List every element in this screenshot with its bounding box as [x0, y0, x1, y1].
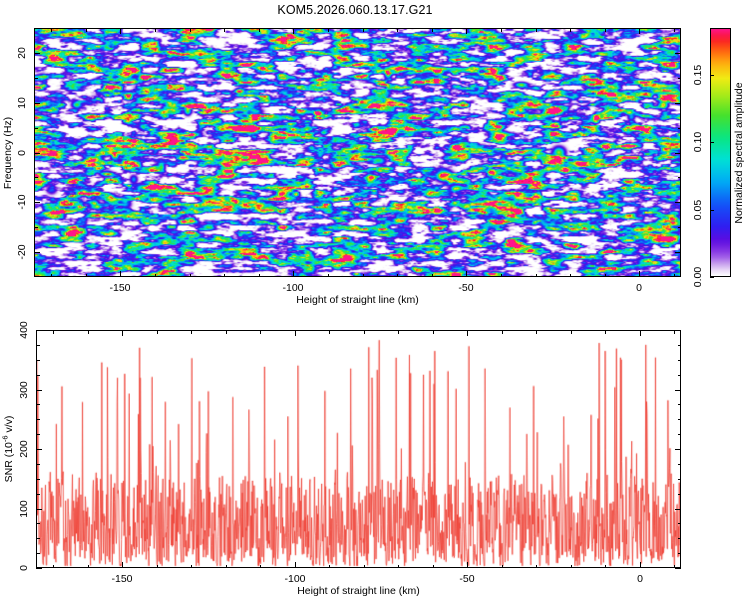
x-minor-tick-top — [398, 330, 399, 334]
y-minor-tick — [36, 538, 40, 539]
y-tick-label: 10 — [16, 97, 28, 109]
x-minor-tick-top — [536, 28, 537, 32]
x-minor-tick-top — [328, 28, 329, 32]
x-minor-tick — [536, 565, 537, 569]
x-minor-tick — [433, 565, 434, 569]
y-minor-tick — [36, 464, 40, 465]
y-major-tick-right — [675, 509, 681, 510]
x-major-tick-top — [122, 330, 123, 336]
y-minor-tick-right — [678, 494, 682, 495]
colorbar-tick — [710, 75, 714, 76]
x-minor-tick-top — [571, 330, 572, 334]
x-minor-tick — [674, 274, 675, 278]
x-tick-label: 0 — [636, 282, 642, 294]
x-minor-tick — [157, 565, 158, 569]
y-minor-tick-right — [678, 345, 682, 346]
spectrogram-panel — [34, 28, 681, 277]
x-minor-tick — [328, 274, 329, 278]
y-minor-tick — [36, 523, 40, 524]
y-minor-tick-right — [678, 360, 682, 361]
y-minor-tick — [36, 404, 40, 405]
y-minor-tick-right — [678, 227, 682, 228]
x-minor-tick-top — [536, 330, 537, 334]
x-major-tick — [466, 271, 467, 277]
x-minor-tick — [605, 274, 606, 278]
y-tick-label: -10 — [16, 194, 28, 209]
y-tick-label: 20 — [16, 47, 28, 59]
y-major-tick — [34, 103, 40, 104]
x-minor-tick — [191, 565, 192, 569]
x-minor-tick — [88, 565, 89, 569]
x-minor-tick — [536, 274, 537, 278]
x-minor-tick-top — [674, 28, 675, 32]
y-major-tick-right — [675, 153, 681, 154]
y-major-tick — [36, 330, 42, 331]
x-minor-tick — [51, 274, 52, 278]
spectrogram-y-axis-title: Frequency (Hz) — [2, 116, 14, 188]
colorbar-tick — [710, 142, 714, 143]
y-minor-tick — [34, 78, 38, 79]
x-major-tick — [120, 271, 121, 277]
y-tick-label: 400 — [18, 321, 30, 339]
x-minor-tick — [363, 274, 364, 278]
y-major-tick-right — [675, 202, 681, 203]
x-tick-label: -150 — [111, 573, 132, 585]
y-tick-label: 100 — [18, 500, 30, 518]
x-minor-tick-top — [397, 28, 398, 32]
y-minor-tick-right — [678, 128, 682, 129]
x-minor-tick-top — [432, 28, 433, 32]
x-major-tick-top — [293, 28, 294, 34]
x-major-tick — [640, 562, 641, 568]
x-minor-tick — [397, 274, 398, 278]
x-minor-tick-top — [190, 28, 191, 32]
y-major-tick-right — [675, 390, 681, 391]
colorbar-tick-label: 0.00 — [692, 267, 704, 287]
y-minor-tick-right — [678, 523, 682, 524]
x-tick-label: -50 — [459, 573, 474, 585]
x-minor-tick — [570, 274, 571, 278]
colorbar — [710, 28, 731, 277]
x-minor-tick-top — [51, 28, 52, 32]
x-minor-tick-top — [364, 330, 365, 334]
y-major-tick — [36, 449, 42, 450]
x-minor-tick — [224, 274, 225, 278]
x-minor-tick — [605, 565, 606, 569]
y-major-tick-right — [675, 568, 681, 569]
x-minor-tick-top — [605, 330, 606, 334]
x-major-tick-top — [120, 28, 121, 34]
x-tick-label: -150 — [109, 282, 130, 294]
x-minor-tick-top — [155, 28, 156, 32]
x-minor-tick — [226, 565, 227, 569]
y-major-tick — [36, 509, 42, 510]
colorbar-gradient — [711, 29, 730, 276]
colorbar-tick-label: 0.05 — [692, 200, 704, 220]
x-minor-tick — [364, 565, 365, 569]
y-minor-tick-right — [678, 538, 682, 539]
y-tick-label: 0 — [18, 565, 30, 571]
y-major-tick — [34, 53, 40, 54]
y-major-tick-right — [675, 252, 681, 253]
x-tick-label: 0 — [637, 573, 643, 585]
y-tick-label: 200 — [18, 440, 30, 458]
x-minor-tick-top — [260, 330, 261, 334]
x-minor-tick-top — [191, 330, 192, 334]
y-minor-tick-right — [678, 434, 682, 435]
y-major-tick-right — [675, 449, 681, 450]
x-major-tick — [122, 562, 123, 568]
y-major-tick-right — [675, 330, 681, 331]
y-minor-tick — [36, 553, 40, 554]
x-minor-tick — [502, 565, 503, 569]
x-minor-tick-top — [605, 28, 606, 32]
x-minor-tick-top — [363, 28, 364, 32]
snr-panel — [36, 330, 681, 568]
snr-y-axis-label-suffix: v/v) — [3, 416, 15, 436]
y-major-tick — [34, 153, 40, 154]
spectrogram-image — [35, 29, 680, 276]
x-minor-tick-top — [259, 28, 260, 32]
y-minor-tick — [36, 419, 40, 420]
x-minor-tick-top — [88, 330, 89, 334]
y-minor-tick-right — [678, 177, 682, 178]
y-minor-tick — [34, 128, 38, 129]
x-minor-tick — [432, 274, 433, 278]
x-minor-tick — [259, 274, 260, 278]
x-minor-tick — [155, 274, 156, 278]
x-minor-tick — [260, 565, 261, 569]
x-minor-tick-top — [226, 330, 227, 334]
x-minor-tick — [571, 565, 572, 569]
colorbar-tick — [710, 210, 714, 211]
y-minor-tick-right — [678, 78, 682, 79]
y-minor-tick-right — [678, 419, 682, 420]
colorbar-tick-label: 0.10 — [692, 132, 704, 152]
y-minor-tick — [34, 177, 38, 178]
y-minor-tick-right — [678, 479, 682, 480]
x-major-tick — [467, 562, 468, 568]
y-tick-label: -20 — [16, 244, 28, 259]
x-minor-tick — [53, 565, 54, 569]
x-minor-tick-top — [329, 330, 330, 334]
y-minor-tick — [36, 479, 40, 480]
x-tick-label: -50 — [458, 282, 473, 294]
y-tick-label: 0 — [16, 150, 28, 156]
x-major-tick-top — [639, 28, 640, 34]
x-tick-label: -100 — [282, 282, 303, 294]
figure-title: KOM5.2026.060.13.17.G21 — [0, 3, 710, 17]
y-minor-tick — [36, 345, 40, 346]
x-minor-tick-top — [157, 330, 158, 334]
x-minor-tick-top — [570, 28, 571, 32]
x-minor-tick-top — [224, 28, 225, 32]
x-major-tick-top — [466, 28, 467, 34]
x-major-tick-top — [295, 330, 296, 336]
y-minor-tick — [36, 360, 40, 361]
y-major-tick — [36, 568, 42, 569]
figure-root: KOM5.2026.060.13.17.G21 -150-100-500-20-… — [0, 0, 750, 600]
x-major-tick — [295, 562, 296, 568]
y-minor-tick — [34, 227, 38, 228]
snr-y-axis-label-exponent: -6 — [1, 435, 10, 442]
y-major-tick — [34, 202, 40, 203]
x-minor-tick-top — [86, 28, 87, 32]
x-minor-tick — [329, 565, 330, 569]
y-minor-tick-right — [678, 375, 682, 376]
colorbar-tick-label: 0.15 — [692, 65, 704, 85]
y-major-tick — [34, 252, 40, 253]
snr-x-axis-title: Height of straight line (km) — [297, 585, 420, 597]
x-tick-label: -100 — [284, 573, 305, 585]
y-minor-tick-right — [678, 464, 682, 465]
y-minor-tick — [36, 375, 40, 376]
x-minor-tick-top — [501, 28, 502, 32]
y-major-tick — [36, 390, 42, 391]
x-minor-tick — [398, 565, 399, 569]
x-major-tick-top — [467, 330, 468, 336]
x-major-tick-top — [640, 330, 641, 336]
snr-trace-plot — [37, 331, 680, 567]
y-minor-tick-right — [678, 404, 682, 405]
colorbar-tick — [710, 277, 714, 278]
y-minor-tick — [36, 494, 40, 495]
x-major-tick — [639, 271, 640, 277]
colorbar-title: Normalized spectral amplitude — [733, 82, 745, 223]
y-major-tick-right — [675, 53, 681, 54]
x-minor-tick — [190, 274, 191, 278]
snr-y-axis-title: SNR (10-6 v/v) — [1, 416, 16, 483]
y-minor-tick-right — [678, 553, 682, 554]
y-tick-label: 300 — [18, 381, 30, 399]
x-minor-tick — [501, 274, 502, 278]
x-minor-tick-top — [53, 330, 54, 334]
x-minor-tick-top — [433, 330, 434, 334]
spectrogram-x-axis-title: Height of straight line (km) — [296, 294, 419, 306]
x-minor-tick-top — [502, 330, 503, 334]
snr-y-axis-label-prefix: SNR (10 — [3, 442, 15, 482]
x-minor-tick — [86, 274, 87, 278]
y-major-tick-right — [675, 103, 681, 104]
y-minor-tick — [36, 434, 40, 435]
x-major-tick — [293, 271, 294, 277]
